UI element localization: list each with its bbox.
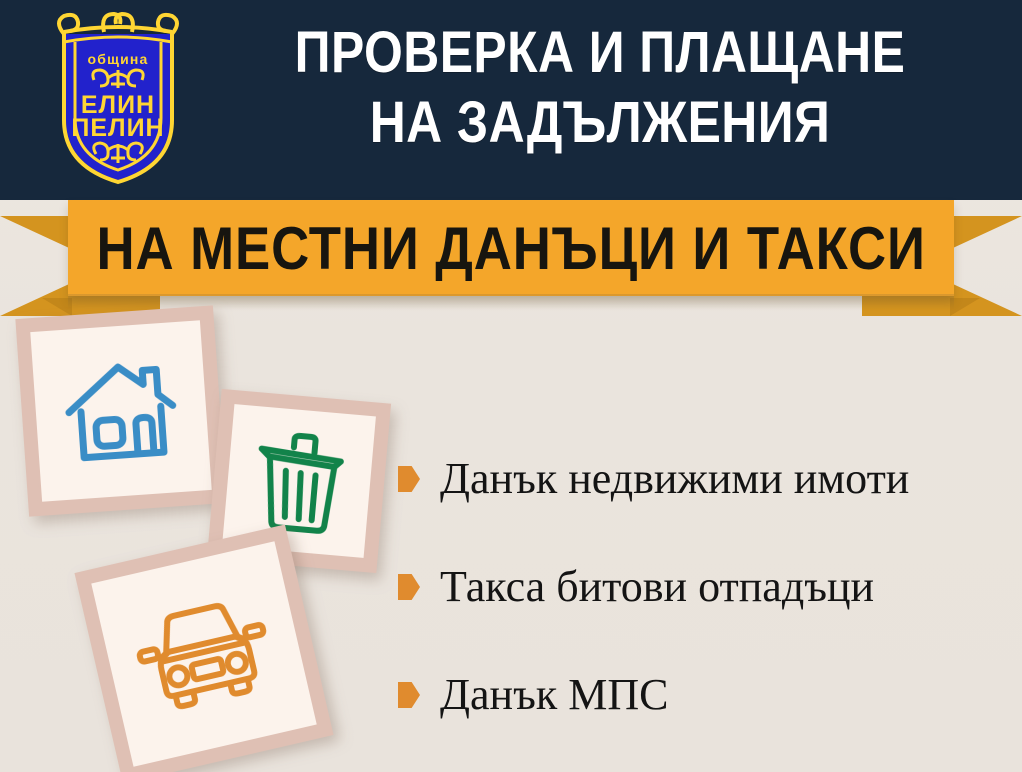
poster-root: община ЕЛИН ПЕЛИН ПРОВЕРКА И ПЛАЩАН bbox=[0, 0, 1022, 772]
services-list: Данък недвижими имоти Такса битови отпад… bbox=[398, 425, 1008, 749]
list-item[interactable]: Данък МПС bbox=[398, 641, 1008, 749]
ribbon-text: НА МЕСТНИ ДАНЪЦИ И ТАКСИ bbox=[96, 214, 925, 283]
list-item[interactable]: Такса битови отпадъци bbox=[398, 533, 1008, 641]
ribbon-body: НА МЕСТНИ ДАНЪЦИ И ТАКСИ bbox=[68, 200, 954, 296]
bullet-arrow-icon bbox=[398, 574, 420, 600]
trash-bin-icon bbox=[244, 422, 353, 540]
list-item-label: Такса битови отпадъци bbox=[440, 564, 874, 610]
coat-of-arms-icon: община ЕЛИН ПЕЛИН bbox=[42, 8, 194, 186]
car-icon bbox=[127, 588, 281, 719]
svg-text:община: община bbox=[87, 51, 148, 67]
list-item-label: Данък МПС bbox=[440, 672, 668, 718]
house-icon bbox=[57, 351, 185, 471]
stamp-card-house bbox=[15, 305, 226, 516]
list-item[interactable]: Данък недвижими имоти bbox=[398, 425, 1008, 533]
page-title: ПРОВЕРКА И ПЛАЩАНЕ НА ЗАДЪЛЖЕНИЯ bbox=[247, 18, 952, 158]
list-item-label: Данък недвижими имоти bbox=[440, 456, 909, 502]
ribbon-banner: НА МЕСТНИ ДАНЪЦИ И ТАКСИ bbox=[0, 198, 1022, 318]
bullet-arrow-icon bbox=[398, 466, 420, 492]
stamp-card-car-inner bbox=[91, 541, 316, 766]
svg-text:ПЕЛИН: ПЕЛИН bbox=[71, 114, 164, 142]
bullet-arrow-icon bbox=[398, 682, 420, 708]
stamp-card-house-inner bbox=[30, 320, 211, 501]
